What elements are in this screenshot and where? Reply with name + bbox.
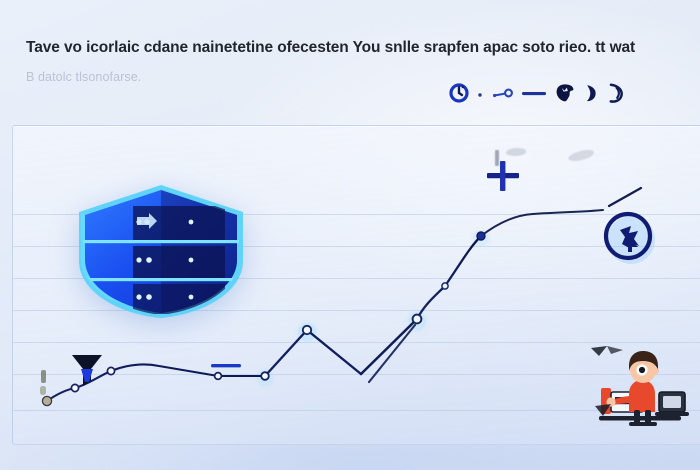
analyst-avatar-illustration bbox=[585, 344, 693, 440]
shield-server-icon bbox=[71, 184, 251, 319]
series-line-segment-3 bbox=[361, 319, 417, 374]
series-line-segment-5 bbox=[481, 210, 603, 236]
dot-icon bbox=[477, 82, 483, 104]
data-point-marker bbox=[215, 373, 222, 380]
clock-refresh-icon[interactable] bbox=[448, 82, 470, 104]
minus-dash-icon[interactable] bbox=[521, 82, 547, 104]
page-title-text: Tave vo icorlaic cdane nainetetine ofece… bbox=[26, 39, 635, 56]
data-point-marker bbox=[261, 372, 269, 380]
data-point-marker bbox=[107, 367, 114, 374]
chart-card bbox=[12, 125, 700, 445]
data-point-marker bbox=[413, 315, 422, 324]
data-point-marker bbox=[303, 326, 311, 334]
series-line-segment-6 bbox=[609, 188, 641, 206]
page-subtitle-text: B datolc tlsonofarse. bbox=[26, 70, 141, 84]
target-badge-icon[interactable] bbox=[598, 206, 660, 268]
series-line-segment-4 bbox=[417, 236, 481, 319]
data-point-marker bbox=[442, 283, 448, 289]
axis-tick-marks bbox=[35, 368, 57, 398]
key-icon[interactable] bbox=[490, 82, 514, 104]
data-point-marker bbox=[477, 232, 485, 240]
series-line-segment-3-echo bbox=[369, 325, 415, 382]
crescent-outline-icon[interactable] bbox=[607, 82, 626, 104]
legend-dash-icon bbox=[211, 358, 241, 368]
header-icon-toolbar[interactable] bbox=[448, 78, 626, 108]
shield-break-icon[interactable] bbox=[554, 82, 576, 104]
filter-funnel-icon[interactable] bbox=[69, 351, 105, 389]
plus-icon[interactable] bbox=[483, 158, 523, 194]
page-title: Tave vo icorlaic cdane nainetetine ofece… bbox=[26, 38, 682, 58]
crescent-icon[interactable] bbox=[583, 82, 600, 104]
